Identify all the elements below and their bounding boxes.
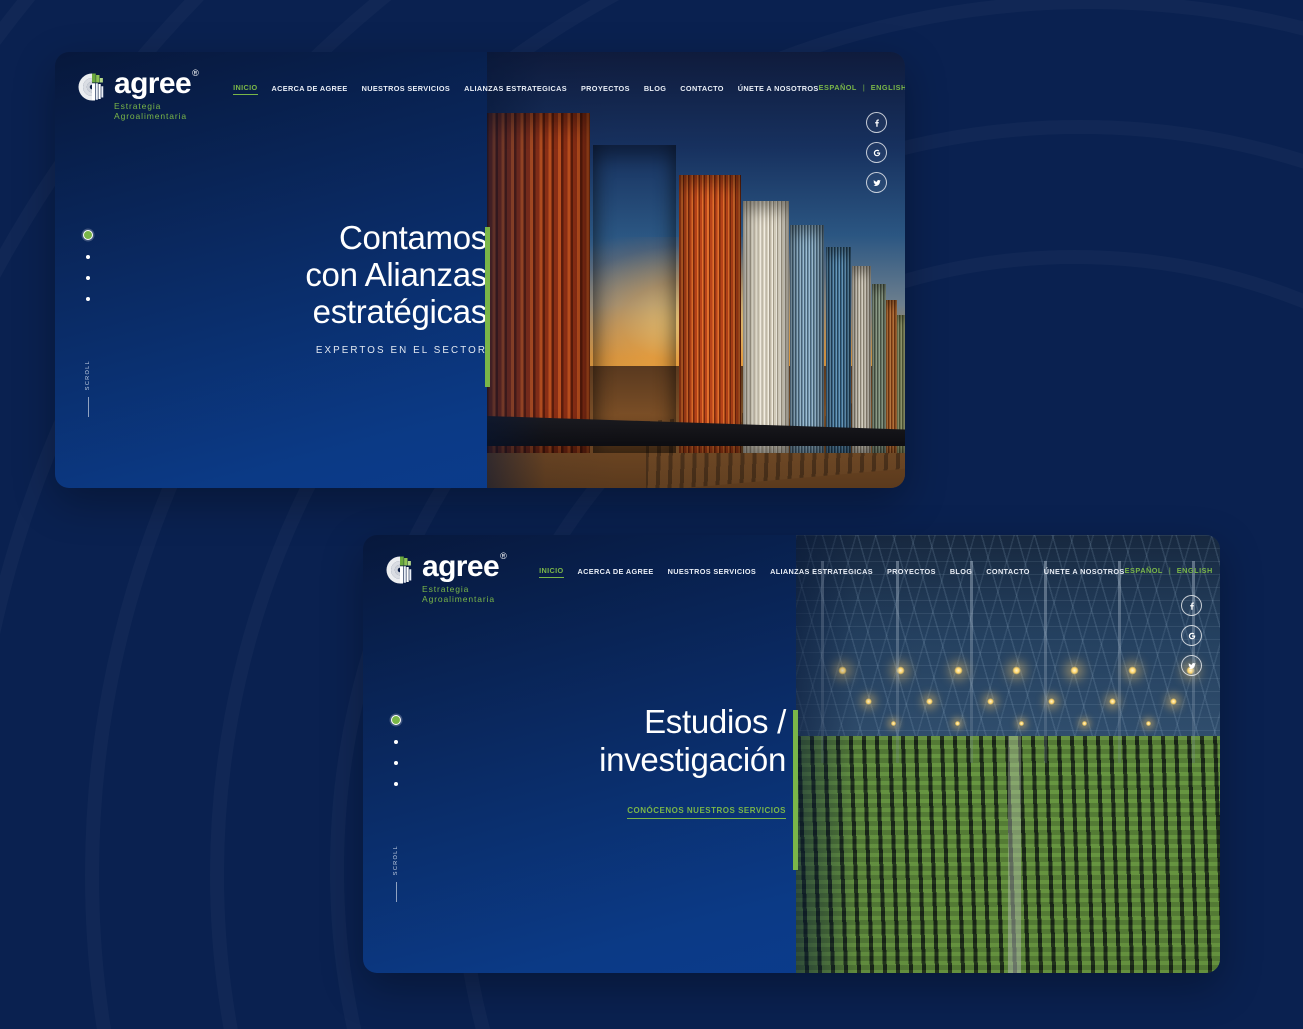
lang-separator: | <box>1169 566 1171 575</box>
lang-spanish[interactable]: ESPAÑOL <box>1125 566 1163 575</box>
nav-item-inicio[interactable]: INICIO <box>539 566 563 578</box>
nav-item-proyectos[interactable]: PROYECTOS <box>887 567 936 578</box>
nav-item-servicios[interactable]: NUESTROS SERVICIOS <box>362 84 450 95</box>
lang-english[interactable]: ENGLISH <box>1177 566 1213 575</box>
slider-rail: SCROLL <box>385 715 407 902</box>
lang-spanish[interactable]: ESPAÑOL <box>819 83 857 92</box>
main-navigation: INICIO ACERCA DE AGREE NUESTROS SERVICIO… <box>233 83 819 95</box>
hero-title-line-3: estratégicas <box>67 294 487 331</box>
brand-tagline-line-1: Estrategia <box>422 584 505 595</box>
nav-item-contacto[interactable]: CONTACTO <box>680 84 723 95</box>
twitter-icon[interactable] <box>866 172 887 193</box>
brand-name: agree® <box>114 70 197 99</box>
social-links <box>1181 595 1202 676</box>
slider-dot-3[interactable] <box>86 276 90 280</box>
image-edge-vignette <box>796 535 1220 973</box>
slider-dot-4[interactable] <box>86 297 90 301</box>
brand-text: agree® Estrategia Agroalimentaria <box>114 70 197 122</box>
hero-title-line-1: Estudios / <box>366 703 786 741</box>
hero-title: Estudios / investigación <box>366 703 786 778</box>
slider-dot-2[interactable] <box>394 740 398 744</box>
slider-dot-2[interactable] <box>86 255 90 259</box>
agree-circular-stripes-logo-icon <box>77 72 107 102</box>
nav-item-unete[interactable]: ÚNETE A NOSOTROS <box>1044 567 1125 578</box>
registered-mark: ® <box>192 68 198 78</box>
google-icon[interactable] <box>1181 625 1202 646</box>
nav-item-servicios[interactable]: NUESTROS SERVICIOS <box>668 567 756 578</box>
hero-image-estudios <box>796 535 1220 973</box>
scroll-label: SCROLL <box>85 360 91 390</box>
hero-copy-alianzas: Contamos con Alianzas estratégicas EXPER… <box>67 220 487 356</box>
hero-image-alianzas <box>487 52 905 488</box>
slider-dot-4[interactable] <box>394 782 398 786</box>
hero-title-line-2: investigación <box>366 741 786 779</box>
main-navigation: INICIO ACERCA DE AGREE NUESTROS SERVICIO… <box>539 566 1125 578</box>
brand-tagline: Estrategia Agroalimentaria <box>114 101 197 122</box>
facebook-icon[interactable] <box>1181 595 1202 616</box>
slider-rail: SCROLL <box>77 230 99 417</box>
brand-logo[interactable]: agree® Estrategia Agroalimentaria <box>77 70 197 122</box>
hero-title-line-1: Contamos <box>67 220 487 257</box>
brand-tagline-line-2: Agroalimentaria <box>114 111 197 122</box>
green-accent-bar <box>485 227 490 387</box>
nav-item-acerca[interactable]: ACERCA DE AGREE <box>578 567 654 578</box>
google-icon[interactable] <box>866 142 887 163</box>
brand-tagline: Estrategia Agroalimentaria <box>422 584 505 605</box>
scroll-line <box>396 882 397 902</box>
nav-item-alianzas[interactable]: ALIANZAS ESTRATEGICAS <box>464 84 567 95</box>
slider-dot-1[interactable] <box>83 230 93 240</box>
brand-text: agree® Estrategia Agroalimentaria <box>422 553 505 605</box>
registered-mark: ® <box>500 551 506 561</box>
hero-card-estudios: SCROLL Estudios / investigación CONÓCENO… <box>363 535 1220 973</box>
brand-tagline-line-2: Agroalimentaria <box>422 594 505 605</box>
lang-separator: | <box>863 83 865 92</box>
hero-subtitle: EXPERTOS EN EL SECTOR <box>67 345 487 356</box>
language-switcher: ESPAÑOL | ENGLISH <box>819 83 905 92</box>
agree-circular-stripes-logo-icon <box>385 555 415 585</box>
nav-item-blog[interactable]: BLOG <box>644 84 666 95</box>
scroll-line <box>88 397 89 417</box>
scroll-label: SCROLL <box>393 845 399 875</box>
nav-item-contacto[interactable]: CONTACTO <box>986 567 1029 578</box>
nav-item-unete[interactable]: ÚNETE A NOSOTROS <box>738 84 819 95</box>
hero-copy-estudios: Estudios / investigación CONÓCENOS NUEST… <box>366 703 786 819</box>
social-links <box>866 112 887 193</box>
green-accent-bar <box>793 710 798 870</box>
nav-item-alianzas[interactable]: ALIANZAS ESTRATEGICAS <box>770 567 873 578</box>
brand-name: agree® <box>422 553 505 582</box>
hero-cta-link[interactable]: CONÓCENOS NUESTROS SERVICIOS <box>627 806 786 819</box>
hero-title: Contamos con Alianzas estratégicas <box>67 220 487 331</box>
language-switcher: ESPAÑOL | ENGLISH <box>1125 566 1213 575</box>
lang-english[interactable]: ENGLISH <box>871 83 905 92</box>
facebook-icon[interactable] <box>866 112 887 133</box>
slider-dot-3[interactable] <box>394 761 398 765</box>
nav-item-acerca[interactable]: ACERCA DE AGREE <box>272 84 348 95</box>
hero-title-line-2: con Alianzas <box>67 257 487 294</box>
nav-item-blog[interactable]: BLOG <box>950 567 972 578</box>
nav-item-inicio[interactable]: INICIO <box>233 83 257 95</box>
hero-card-alianzas: SCROLL Contamos con Alianzas estratégica… <box>55 52 905 488</box>
brand-tagline-line-1: Estrategia <box>114 101 197 112</box>
brand-logo[interactable]: agree® Estrategia Agroalimentaria <box>385 553 505 605</box>
twitter-icon[interactable] <box>1181 655 1202 676</box>
slider-dot-1[interactable] <box>391 715 401 725</box>
image-edge-vignette <box>487 52 905 488</box>
nav-item-proyectos[interactable]: PROYECTOS <box>581 84 630 95</box>
